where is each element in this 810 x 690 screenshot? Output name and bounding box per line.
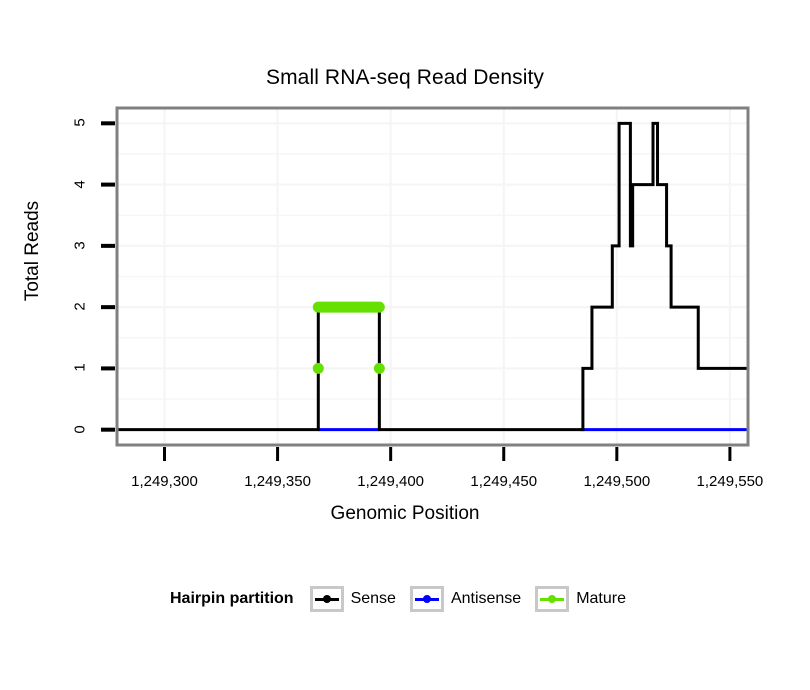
legend-items: SenseAntisenseMature	[310, 586, 640, 612]
y-tick-label: 1	[72, 353, 89, 383]
legend-label: Antisense	[451, 590, 521, 608]
chart-container: Small RNA-seq Read Density Total Reads G…	[0, 0, 810, 690]
x-tick-label: 1,249,400	[331, 473, 451, 490]
y-tick-label: 5	[72, 108, 89, 138]
x-tick-label: 1,249,500	[557, 473, 677, 490]
legend-item[interactable]: Sense	[310, 586, 396, 612]
legend-point-icon	[423, 595, 431, 603]
x-tick-label: 1,249,450	[444, 473, 564, 490]
mature-point-marker	[374, 363, 385, 374]
legend-key-swatch	[535, 586, 569, 612]
y-tick-label: 0	[72, 414, 89, 444]
legend-title: Hairpin partition	[170, 590, 294, 608]
x-tick-label: 1,249,350	[218, 473, 338, 490]
legend: Hairpin partition SenseAntisenseMature	[0, 586, 810, 612]
x-tick-label: 1,249,550	[670, 473, 790, 490]
legend-key-swatch	[410, 586, 444, 612]
legend-point-icon	[323, 595, 331, 603]
legend-point-icon	[548, 595, 556, 603]
y-tick-label: 4	[72, 169, 89, 199]
legend-key-swatch	[310, 586, 344, 612]
legend-label: Mature	[576, 590, 626, 608]
y-tick-label: 3	[72, 230, 89, 260]
mature-point-marker	[313, 363, 324, 374]
legend-item[interactable]: Antisense	[410, 586, 521, 612]
y-tick-label: 2	[72, 292, 89, 322]
legend-label: Sense	[351, 590, 396, 608]
legend-item[interactable]: Mature	[535, 586, 626, 612]
x-tick-label: 1,249,300	[104, 473, 224, 490]
